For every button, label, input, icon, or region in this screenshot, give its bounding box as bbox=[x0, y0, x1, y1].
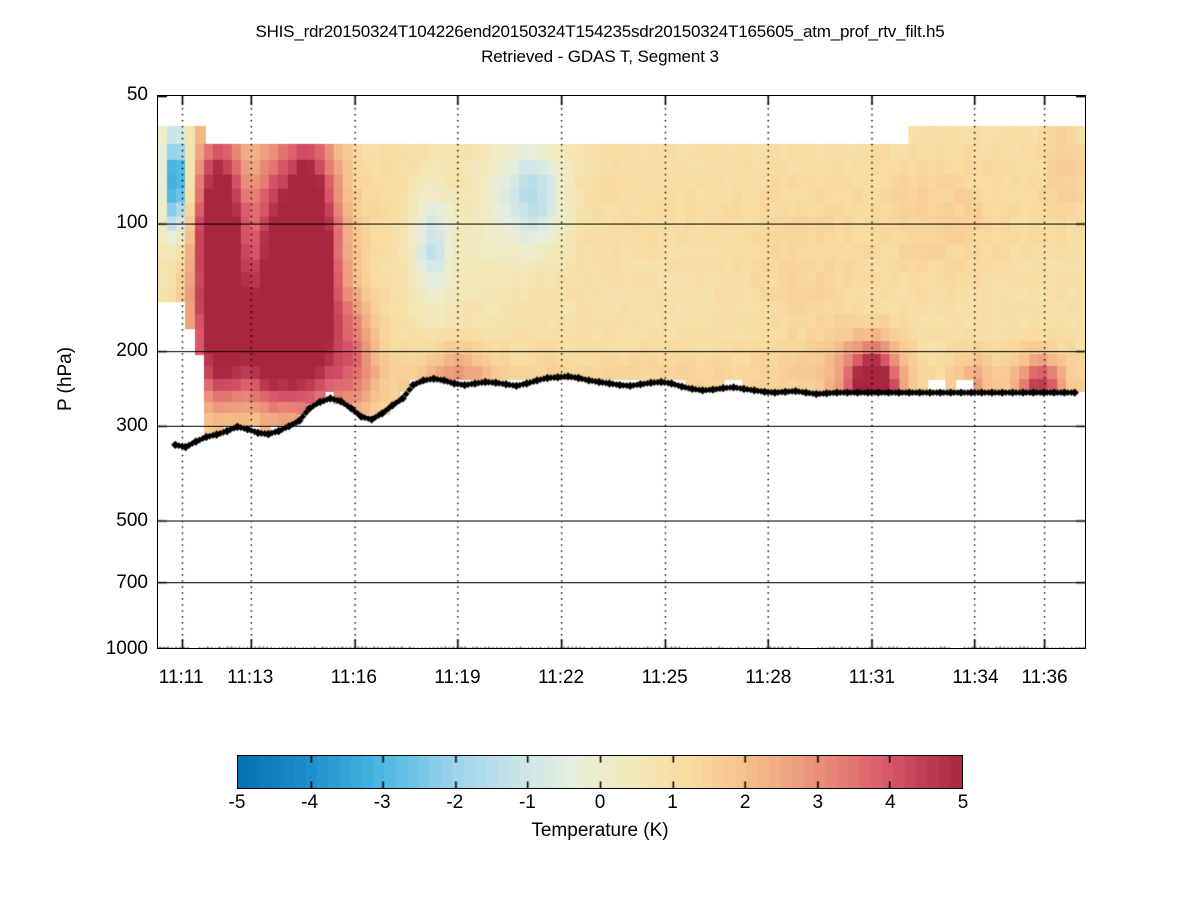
x-tick-label: 11:13 bbox=[227, 668, 273, 687]
x-tick-label: 11:16 bbox=[331, 668, 377, 687]
x-tick-label: 11:22 bbox=[538, 668, 584, 687]
x-tick-label: 11:31 bbox=[849, 668, 895, 687]
x-tick-label: 11:34 bbox=[952, 668, 998, 687]
colorbar-tick-label: -2 bbox=[446, 793, 463, 812]
colorbar-tick-label: -4 bbox=[301, 793, 318, 812]
figure-title: SHIS_rdr20150324T104226end20150324T15423… bbox=[0, 20, 1200, 44]
colorbar-tick-label: 3 bbox=[813, 793, 824, 812]
y-tick-label: 1000 bbox=[106, 639, 148, 658]
grid-and-markers-canvas bbox=[158, 96, 1085, 648]
y-tick-label: 500 bbox=[116, 511, 148, 530]
y-tick-label: 50 bbox=[127, 85, 148, 104]
colorbar[interactable] bbox=[237, 755, 963, 789]
x-tick-label: 11:36 bbox=[1021, 668, 1067, 687]
y-tick-label: 300 bbox=[116, 416, 148, 435]
colorbar-tick-label: 5 bbox=[958, 793, 969, 812]
colorbar-label: Temperature (K) bbox=[0, 820, 1200, 842]
colorbar-tick-label: 4 bbox=[885, 793, 896, 812]
y-tick-label: 700 bbox=[116, 573, 148, 592]
figure-subtitle: Retrieved - GDAS T, Segment 3 bbox=[0, 44, 1200, 70]
x-axis-ticks: 11:1111:1311:1611:1911:2211:2511:2811:31… bbox=[0, 668, 1200, 696]
colorbar-tick-label: 1 bbox=[667, 793, 678, 812]
y-tick-label: 100 bbox=[116, 213, 148, 232]
colorbar-tick-label: 0 bbox=[595, 793, 606, 812]
x-tick-label: 11:28 bbox=[745, 668, 791, 687]
colorbar-ticks: -5-4-3-2-1012345 bbox=[237, 793, 963, 817]
y-axis-label: P (hPa) bbox=[55, 299, 77, 459]
x-tick-label: 11:19 bbox=[434, 668, 480, 687]
colorbar-tick-label: -3 bbox=[374, 793, 391, 812]
plot-area[interactable] bbox=[157, 95, 1086, 649]
y-tick-label: 200 bbox=[116, 341, 148, 360]
colorbar-tick-label: -5 bbox=[229, 793, 246, 812]
figure-root: SHIS_rdr20150324T104226end20150324T15423… bbox=[0, 0, 1200, 900]
colorbar-tick-label: 2 bbox=[740, 793, 751, 812]
title-block: SHIS_rdr20150324T104226end20150324T15423… bbox=[0, 20, 1200, 70]
x-tick-label: 11:11 bbox=[159, 668, 204, 687]
colorbar-tick-label: -1 bbox=[519, 793, 536, 812]
x-tick-label: 11:25 bbox=[642, 668, 688, 687]
colorbar-gradient bbox=[237, 755, 963, 789]
